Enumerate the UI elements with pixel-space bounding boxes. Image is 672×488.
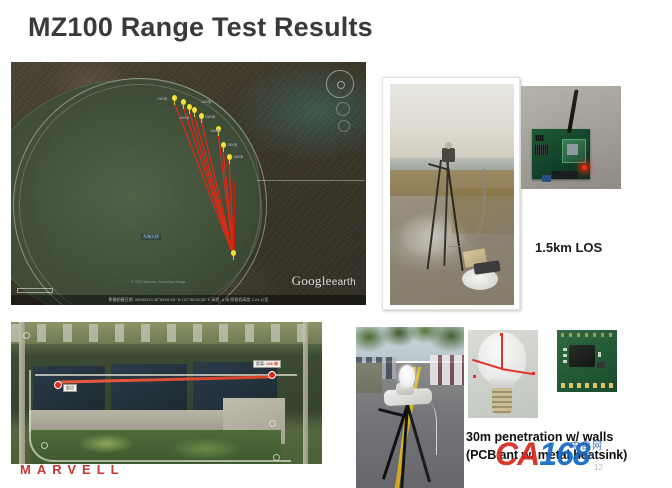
photo-wireless-module xyxy=(557,330,617,392)
photo-eval-board xyxy=(521,86,621,189)
google-earth-logo: Googleearth xyxy=(292,273,356,289)
axis-endpoint xyxy=(500,333,503,336)
axis-endpoint xyxy=(532,372,535,375)
campus-penetration-map: 起点 距离: 266 米 xyxy=(11,322,322,464)
pin-label: 1100米 xyxy=(201,99,211,104)
smd-component xyxy=(563,354,567,357)
map-marker-icon[interactable] xyxy=(41,442,48,449)
measure-label-end: 距离: 266 米 xyxy=(253,360,281,368)
map-marker-icon[interactable] xyxy=(269,420,276,427)
imagery-copyright: © 2013 Navinfo, Cnes/Spot Image xyxy=(131,280,186,285)
pin-label: 1500米 xyxy=(227,142,237,147)
pin-marker[interactable] xyxy=(191,107,198,117)
photo-inner xyxy=(390,84,514,305)
db9-connector xyxy=(552,171,578,179)
crystal-oscillator xyxy=(597,362,605,368)
pcb-board xyxy=(532,129,590,179)
module-pads-bottom xyxy=(561,383,613,388)
measure-endpoint-start[interactable] xyxy=(55,382,61,388)
map-marker-icon[interactable] xyxy=(273,454,280,461)
north-rooftops xyxy=(11,324,322,342)
watermark-domain-text: .com xyxy=(572,450,594,461)
pin-label: 1300米 xyxy=(205,114,215,119)
page-title: MZ100 Range Test Results xyxy=(28,12,373,43)
pin-marker[interactable] xyxy=(171,95,178,105)
smd-component xyxy=(598,352,601,357)
range-measurement-lines xyxy=(11,62,366,305)
axis-endpoint xyxy=(473,375,476,378)
parked-cars-right xyxy=(430,355,464,385)
pin-header xyxy=(535,145,548,155)
pin-label: 1400米 xyxy=(210,128,220,133)
place-tag: 东海大桥 xyxy=(141,234,161,240)
pin-marker-origin[interactable] xyxy=(230,250,237,260)
measure-endpoint-end[interactable] xyxy=(269,372,275,378)
google-wordmark: Google xyxy=(292,273,332,288)
earth-wordmark: earth xyxy=(332,277,356,288)
measure-label-start: 起点 xyxy=(63,384,77,392)
photo-bulb-axes xyxy=(468,330,538,418)
pin-header xyxy=(535,135,544,141)
map-status-bar: 影像拍摄日期: 2009/2/13 30°54'09.54" N 121°56'… xyxy=(11,295,366,305)
module-pads-top xyxy=(561,333,613,337)
smd-component xyxy=(563,360,567,363)
axis-line-z xyxy=(501,334,503,370)
measure-label-text: 距离: xyxy=(256,361,265,366)
penetration-caption-line2: (PCB ant w/ metal heatsink) xyxy=(466,446,672,464)
pin-label: 1600米 xyxy=(233,154,243,159)
pin-marker[interactable] xyxy=(198,113,205,123)
photo-street-test xyxy=(356,327,464,488)
rf-module xyxy=(562,139,586,163)
scale-bar xyxy=(17,288,53,293)
cable xyxy=(418,403,437,455)
module-shield xyxy=(569,345,595,367)
road-east xyxy=(303,322,308,464)
bulb-screw-base xyxy=(492,388,512,414)
slide-canvas: MZ100 Range Test Results xyxy=(0,0,672,488)
usb-connector xyxy=(542,175,551,182)
measure-label-value: 266 米 xyxy=(266,361,278,366)
power-led-indicator xyxy=(582,165,587,170)
smd-component xyxy=(563,348,567,351)
road-west xyxy=(19,322,25,464)
los-distance-label: 1.5km LOS xyxy=(535,240,602,255)
rf-chip xyxy=(567,144,578,155)
photo-tripod-lakeshore xyxy=(382,77,520,310)
pin-label: 1200米 xyxy=(179,115,189,120)
google-earth-range-map: 1000米 1100米 1200米 1300米 1400米 1500米 1600… xyxy=(11,62,366,305)
penetration-caption-line1: 30m penetration w/ walls xyxy=(466,428,672,446)
pin-marker[interactable] xyxy=(226,154,233,164)
tripod-head-device xyxy=(442,148,455,162)
penetration-caption: 30m penetration w/ walls (PCB ant w/ met… xyxy=(466,428,672,464)
pin-label: 1000米 xyxy=(157,96,167,101)
led-bulb xyxy=(399,365,415,387)
marvell-logo: MARVELL xyxy=(20,462,125,477)
pin-marker[interactable] xyxy=(220,142,227,152)
page-number: 12 xyxy=(594,463,603,472)
map-marker-icon[interactable] xyxy=(23,332,30,339)
curb-left xyxy=(356,363,382,393)
